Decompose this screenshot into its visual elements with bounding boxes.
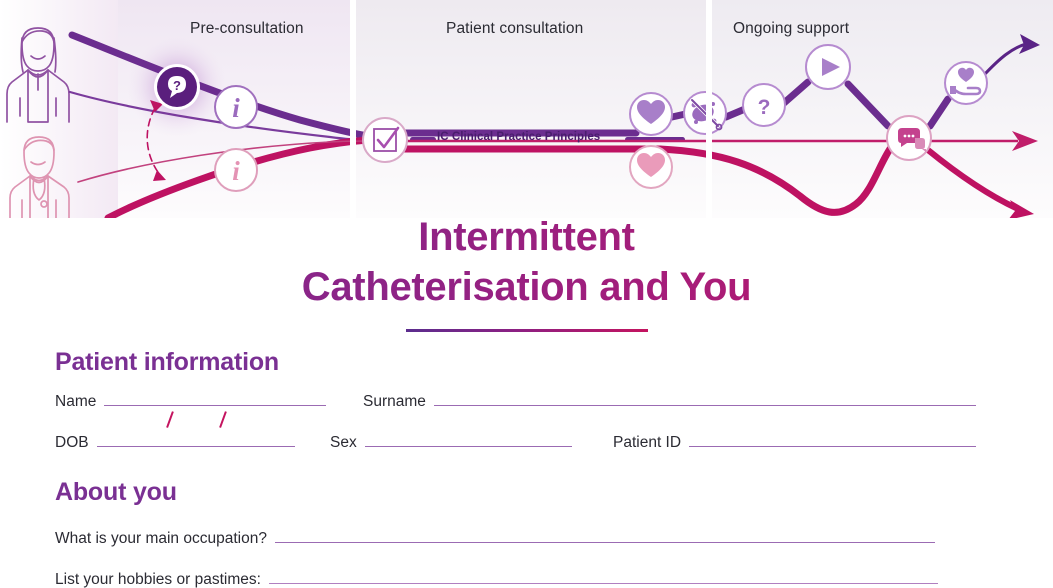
field-input-name[interactable] — [104, 390, 326, 406]
page-title-line-2: Catheterisation and You — [0, 262, 1053, 312]
journey-graphic: ? i i — [0, 0, 1053, 218]
field-label-hobbies: List your hobbies or pastimes: — [55, 571, 261, 588]
field-label-surname: Surname — [363, 393, 426, 411]
field-dob[interactable]: DOB — [55, 431, 295, 452]
ic-clinical-practice-principles-label: IC Clinical Practice Principles — [437, 131, 600, 143]
question-bubble-icon: ? — [154, 64, 200, 110]
field-input-hobbies[interactable] — [269, 568, 938, 584]
form-area: Patient information Name Surname DOB — [0, 340, 1053, 588]
dob-separators — [97, 411, 295, 431]
page-title: Intermittent Catheterisation and You — [0, 212, 1053, 312]
field-label-patient-id: Patient ID — [613, 434, 681, 452]
band-label-ongoing-support: Ongoing support — [733, 20, 849, 38]
heart-icon-pink — [630, 146, 672, 188]
field-input-occupation[interactable] — [275, 527, 935, 543]
section-heading-about-you: About you — [55, 478, 177, 507]
play-icon — [806, 45, 850, 89]
band-label-pre-consultation: Pre-consultation — [190, 20, 304, 38]
page-root: ? i i — [0, 0, 1053, 588]
svg-text:i: i — [232, 93, 240, 123]
chat-bubbles-icon — [887, 116, 931, 160]
field-input-patient-id[interactable] — [689, 431, 976, 447]
page-title-line-1: Intermittent — [0, 212, 1053, 262]
field-label-sex: Sex — [330, 434, 357, 452]
svg-text:i: i — [232, 156, 240, 186]
no-infection-icon — [684, 92, 726, 134]
info-icon-pink: i — [215, 149, 257, 191]
form-row-occupation: What is your main occupation? — [0, 527, 1053, 553]
field-label-occupation: What is your main occupation? — [55, 530, 267, 548]
field-input-surname[interactable] — [434, 390, 976, 406]
section-heading-patient-information: Patient information — [55, 348, 279, 377]
field-sex[interactable]: Sex — [330, 431, 572, 452]
form-row-dob: DOB Sex Patient ID — [0, 431, 1053, 457]
field-input-sex[interactable] — [365, 431, 572, 447]
heart-icon-purple — [630, 93, 672, 135]
form-row-hobbies: List your hobbies or pastimes: — [0, 568, 1053, 588]
title-divider — [406, 329, 648, 332]
hand-heart-icon — [945, 62, 987, 104]
checklist-icon — [363, 118, 407, 162]
field-occupation[interactable]: What is your main occupation? — [55, 527, 935, 548]
field-patient-id[interactable]: Patient ID — [613, 431, 976, 452]
field-hobbies[interactable]: List your hobbies or pastimes: — [55, 568, 938, 588]
band-label-patient-consultation: Patient consultation — [446, 20, 583, 38]
svg-text:?: ? — [758, 96, 771, 119]
field-label-dob: DOB — [55, 434, 89, 452]
svg-text:?: ? — [173, 78, 181, 93]
question-mark-icon: ? — [743, 84, 785, 126]
field-label-name: Name — [55, 393, 96, 411]
field-input-dob[interactable] — [97, 431, 295, 447]
dob-slash-1 — [166, 411, 173, 428]
info-icon-purple: i — [215, 86, 257, 128]
field-surname[interactable]: Surname — [363, 390, 976, 411]
field-name[interactable]: Name — [55, 390, 326, 411]
dob-slash-2 — [219, 411, 226, 428]
